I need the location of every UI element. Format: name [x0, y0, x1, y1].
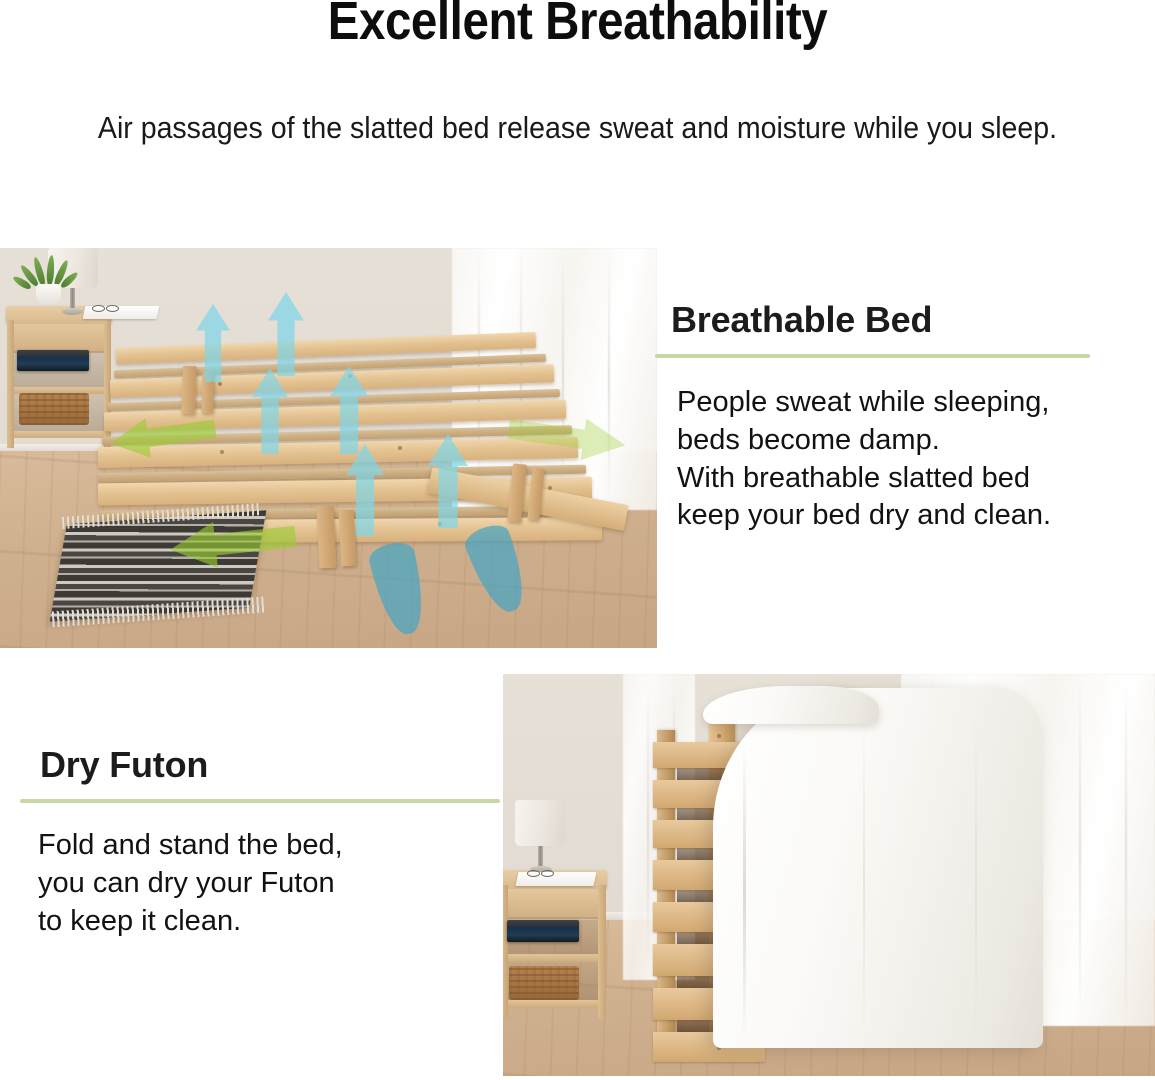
white-futon — [713, 688, 1043, 1048]
breathable-bed-heading: Breathable Bed — [671, 300, 1095, 340]
breathable-bed-photo — [0, 248, 657, 648]
dry-futon-body: Fold and stand the bed, you can dry your… — [38, 827, 500, 940]
dry-futon-copy: Dry Futon Fold and stand the bed, you ca… — [20, 745, 500, 940]
accent-rule — [20, 799, 500, 803]
breathable-bed-body: People sweat while sleeping, beds become… — [677, 384, 1095, 535]
breathable-bed-copy: Breathable Bed People sweat while sleepi… — [655, 300, 1095, 535]
eyeglasses — [92, 305, 105, 312]
stacked-books — [507, 920, 579, 942]
accent-rule — [655, 354, 1090, 358]
page-subtitle: Air passages of the slatted bed release … — [46, 110, 1109, 146]
wicker-basket — [509, 966, 579, 1000]
bed-leg — [181, 366, 197, 414]
product-feature-page: Excellent Breathability Air passages of … — [0, 0, 1155, 1080]
eyeglasses — [106, 305, 119, 312]
dry-futon-photo — [503, 674, 1155, 1076]
bed-leg — [316, 506, 336, 569]
bed-leg — [339, 510, 357, 567]
stacked-books — [17, 350, 89, 371]
eyeglasses — [527, 870, 540, 877]
table-lamp — [515, 800, 565, 846]
eyeglasses — [541, 870, 554, 877]
lamp-base — [62, 308, 83, 315]
wicker-basket — [19, 393, 89, 425]
dry-futon-heading: Dry Futon — [40, 745, 500, 785]
nightstand — [6, 306, 112, 448]
page-title: Excellent Breathability — [69, 0, 1085, 52]
